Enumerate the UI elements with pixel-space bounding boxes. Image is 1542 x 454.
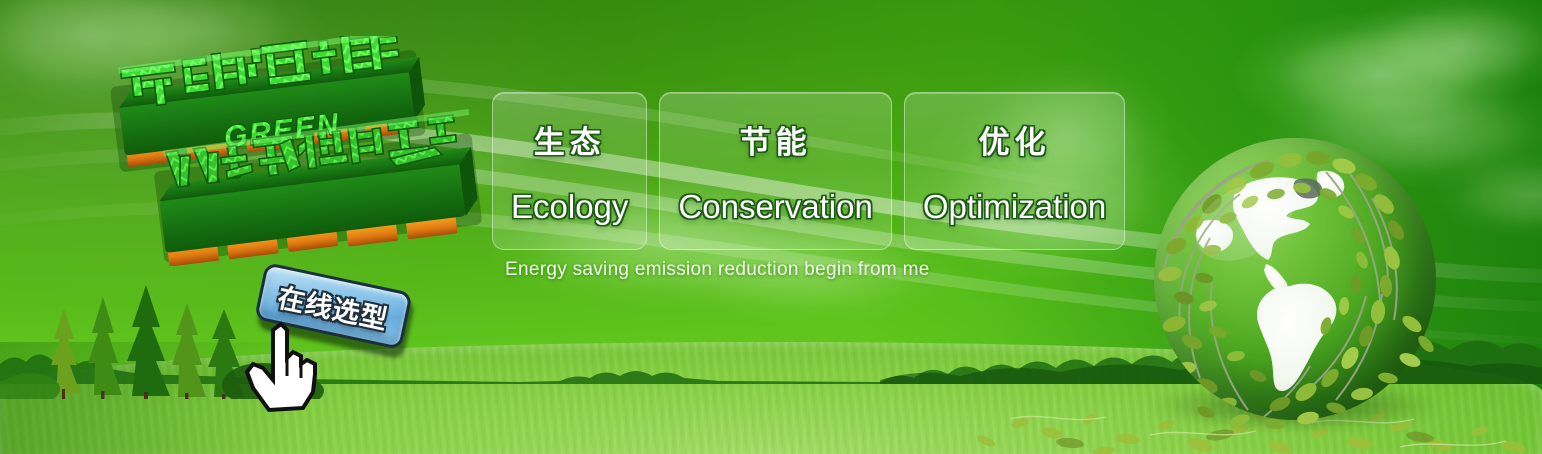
feature-card-conservation[interactable]: 节能 Conservation bbox=[659, 92, 891, 250]
globe-overlay bbox=[1140, 128, 1450, 438]
feature-card-cn-label: 生态 bbox=[534, 117, 606, 162]
eco-banner: GREEN bbox=[0, 0, 1542, 454]
feature-card-ecology[interactable]: 生态 Ecology bbox=[492, 92, 647, 250]
tagline: Energy saving emission reduction begin f… bbox=[505, 259, 930, 281]
feature-card-en-label: Conservation bbox=[678, 188, 872, 226]
feature-card-cn-label: 节能 bbox=[740, 117, 812, 162]
feature-card-list: 生态 Ecology 节能 Conservation 优化 Optimizati… bbox=[492, 92, 1125, 250]
hand-pointer-cursor-icon bbox=[243, 318, 325, 414]
feature-card-en-label: Ecology bbox=[511, 188, 628, 226]
page-title-3d-art: GREEN bbox=[96, 36, 496, 266]
feature-card-en-label: Optimization bbox=[923, 188, 1106, 226]
leafy-earth-globe-icon bbox=[1140, 128, 1450, 438]
feature-card-cn-label: 优化 bbox=[979, 117, 1051, 162]
feature-card-optimization[interactable]: 优化 Optimization bbox=[904, 92, 1125, 250]
